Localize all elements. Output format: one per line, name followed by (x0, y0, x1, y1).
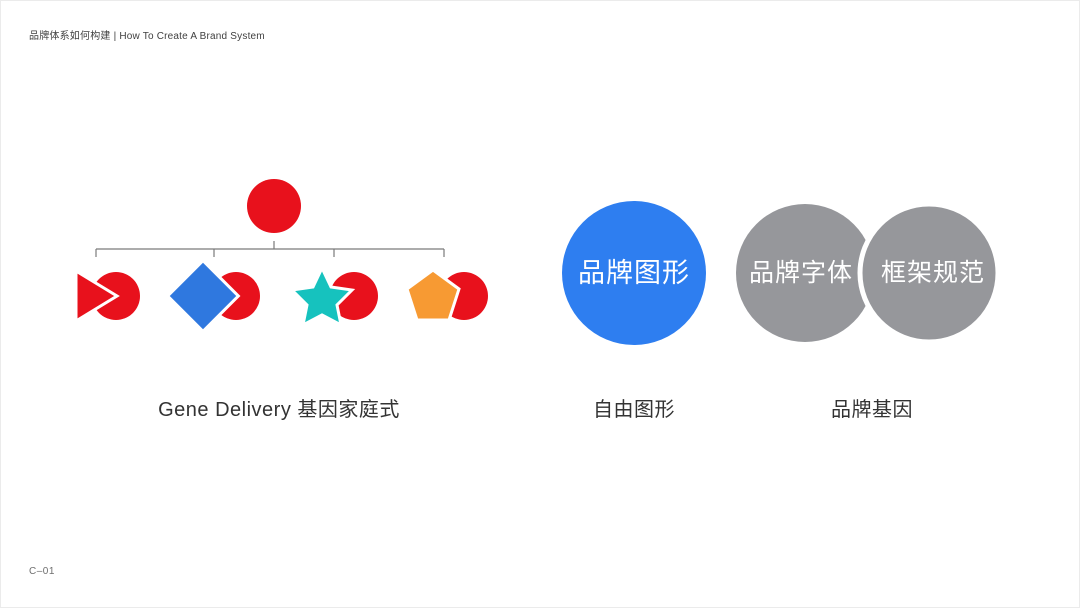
brand-gene-svg: 品牌字体 框架规范 (723, 191, 1013, 356)
gene-family-tree-diagram (71, 171, 491, 341)
tree-node-star (292, 268, 378, 325)
brand-typeface-circle-label: 品牌字体 (749, 259, 853, 287)
slide-header-label: 品牌体系如何构建 | How To Create A Brand System (29, 27, 265, 42)
brand-graphic-circle-label: 品牌图形 (578, 258, 690, 288)
tree-diagram-caption: Gene Delivery 基因家庭式 (59, 393, 499, 422)
brand-gene-group: 品牌字体 框架规范 (723, 191, 1013, 356)
slide-footer-label: C–01 (29, 566, 55, 577)
slide-canvas: 品牌体系如何构建 | How To Create A Brand System (0, 0, 1080, 608)
brand-gene-caption: 品牌基因 (747, 393, 997, 422)
diamond-icon (168, 261, 239, 332)
tree-node-triangle (76, 271, 140, 321)
tree-node-diamond (168, 261, 260, 332)
bracket-connector (96, 241, 444, 257)
framework-spec-circle-label: 框架规范 (881, 259, 985, 287)
tree-diagram-svg (71, 171, 491, 341)
tree-node-pentagon (407, 270, 488, 320)
free-shape-svg: 品牌图形 (549, 191, 724, 356)
parent-red-circle (247, 179, 301, 233)
free-shape-group: 品牌图形 (549, 191, 724, 356)
free-shape-caption: 自由图形 (514, 393, 754, 422)
